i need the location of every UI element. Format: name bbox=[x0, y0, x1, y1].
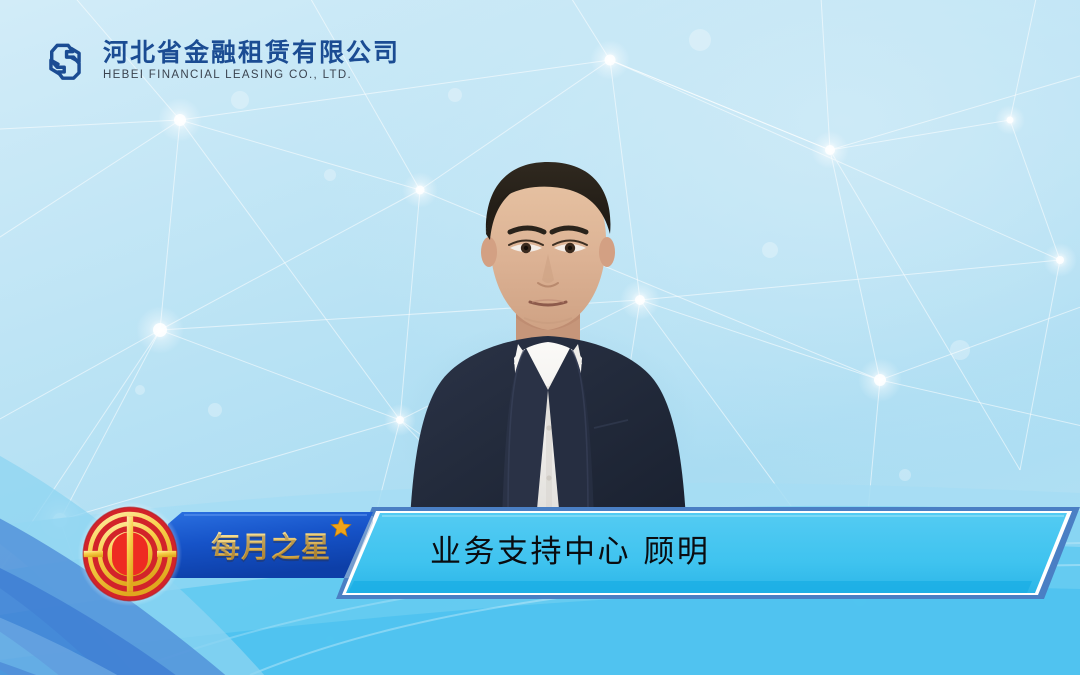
lower-third: 每月之星 bbox=[0, 486, 1080, 621]
presenter-portrait bbox=[398, 128, 698, 520]
presenter-name-line: 业务支持中心 顾明 bbox=[430, 522, 710, 574]
brand-name-en: HEBEI FINANCIAL LEASING CO., LTD. bbox=[103, 70, 400, 82]
chinese-trade-union-emblem-icon bbox=[76, 500, 184, 608]
brand-name-cn: 河北省金融租赁有限公司 bbox=[103, 40, 400, 65]
broadcast-slide: 河北省金融租赁有限公司 HEBEI FINANCIAL LEASING CO.,… bbox=[0, 0, 1080, 675]
brand-lockup: 河北省金融租赁有限公司 HEBEI FINANCIAL LEASING CO.,… bbox=[40, 36, 400, 86]
five-pointed-star-icon bbox=[330, 516, 352, 538]
badge-title: 每月之星 bbox=[196, 520, 346, 570]
hexagonal-interlock-logo-icon bbox=[40, 36, 90, 86]
brand-text: 河北省金融租赁有限公司 HEBEI FINANCIAL LEASING CO.,… bbox=[103, 40, 400, 82]
